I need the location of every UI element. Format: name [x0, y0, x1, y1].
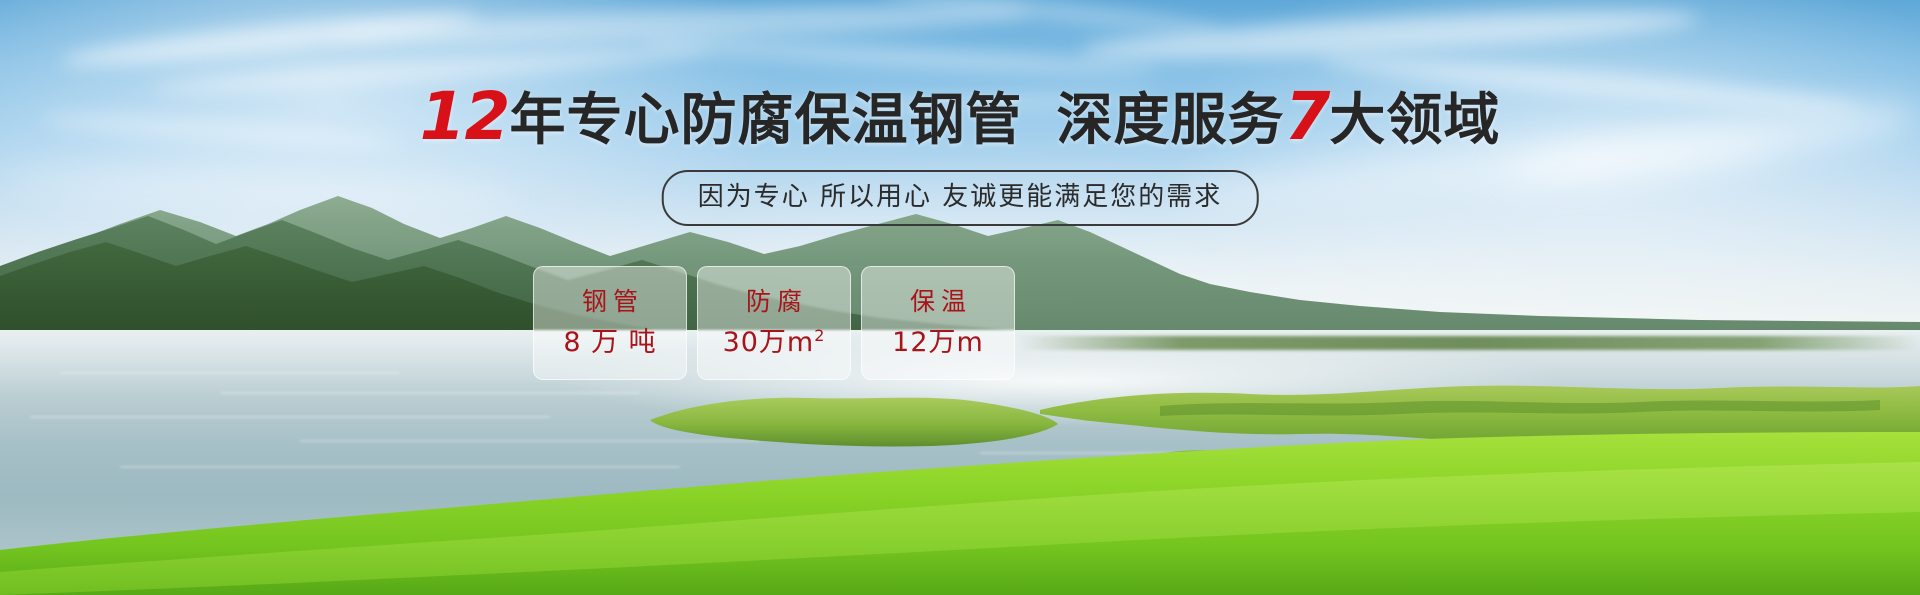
stat-caption: 防腐	[740, 287, 808, 317]
stat-value-text: 12万m	[892, 327, 984, 358]
stat-value: 30万m2	[723, 327, 826, 359]
stat-card-steel-pipe: 钢管 8 万 吨	[533, 266, 687, 380]
stat-value: 8 万 吨	[563, 327, 656, 359]
subtitle-text: 因为专心 所以用心 友诚更能满足您的需求	[698, 182, 1223, 212]
stat-value-text: 8 万 吨	[563, 327, 656, 358]
stat-card-insulation: 保温 12万m	[861, 266, 1015, 380]
headline-main-text: 年专心防腐保温钢管	[509, 88, 1022, 153]
stat-card-anticorrosion: 防腐 30万m2	[697, 266, 851, 380]
stat-caption: 保温	[904, 287, 972, 317]
stat-card-group: 钢管 8 万 吨 防腐 30万m2 保温 12万m	[533, 266, 1015, 380]
headline-fields-number: 7	[1284, 78, 1329, 155]
page-title: 12年专心防腐保温钢管深度服务7大领域	[0, 86, 1920, 152]
subtitle-pill: 因为专心 所以用心 友诚更能满足您的需求	[662, 170, 1259, 226]
stat-caption: 钢管	[576, 287, 644, 317]
headline-fields-text: 大领域	[1329, 88, 1500, 153]
stat-value: 12万m	[892, 327, 984, 359]
stat-value-superscript: 2	[814, 326, 825, 345]
headline-years-number: 12	[420, 78, 510, 155]
stat-value-text: 30万m	[723, 327, 815, 358]
promo-banner: 12年专心防腐保温钢管深度服务7大领域 因为专心 所以用心 友诚更能满足您的需求…	[0, 0, 1920, 595]
headline-service-text: 深度服务	[1056, 88, 1284, 153]
